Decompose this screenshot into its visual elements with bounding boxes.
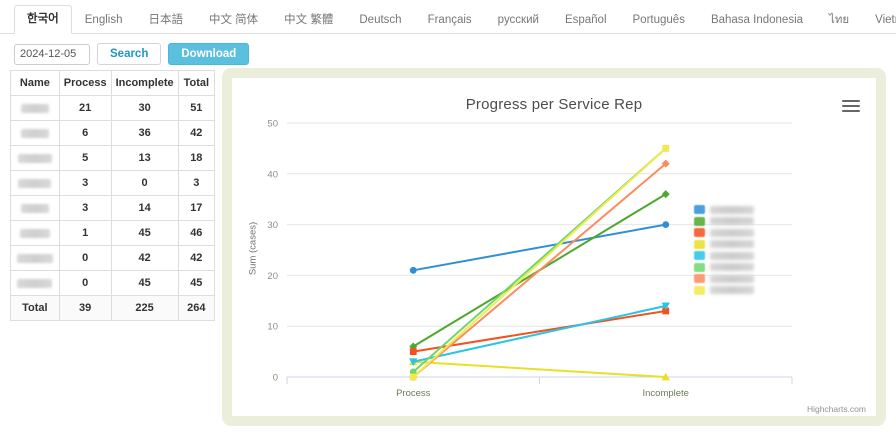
legend-label (710, 275, 754, 283)
language-tab-10[interactable]: Bahasa Indonesia (698, 6, 816, 34)
legend-swatch (694, 263, 705, 272)
total-cell-1: 39 (59, 296, 111, 321)
download-button[interactable]: Download (168, 43, 249, 65)
series-7[interactable] (410, 145, 669, 380)
cell-name (11, 146, 60, 171)
table-row[interactable]: 31417 (11, 196, 215, 221)
cell-total: 18 (178, 146, 214, 171)
x-axis: ProcessIncomplete (287, 377, 792, 399)
table-total-row: Total39225264 (11, 296, 215, 321)
legend-label (710, 252, 754, 260)
cell-process: 21 (59, 96, 111, 121)
redacted-name (21, 204, 49, 213)
cell-total: 42 (178, 246, 214, 271)
legend-label (710, 229, 754, 237)
cell-name (11, 121, 60, 146)
language-tab-bar: 한국어English日本語中文 简体中文 繁體DeutschFrançaisру… (0, 0, 896, 34)
table-header-0: Name (11, 71, 60, 96)
legend-label (710, 286, 754, 294)
language-tab-1[interactable]: English (72, 6, 136, 34)
table-row[interactable]: 14546 (11, 221, 215, 246)
chart-container: Progress per Service Rep Sum (cases) 010… (232, 78, 876, 416)
redacted-name (21, 104, 49, 113)
cell-incomplete: 42 (111, 246, 178, 271)
cell-process: 6 (59, 121, 111, 146)
language-tab-2[interactable]: 日本語 (135, 6, 196, 34)
cell-total: 17 (178, 196, 214, 221)
cell-incomplete: 45 (111, 221, 178, 246)
table-row[interactable]: 04545 (11, 271, 215, 296)
svg-text:50: 50 (267, 119, 278, 130)
legend-item-5[interactable] (694, 262, 774, 274)
cell-incomplete: 14 (111, 196, 178, 221)
cell-incomplete: 30 (111, 96, 178, 121)
table-row[interactable]: 213051 (11, 96, 215, 121)
summary-table-container: NameProcessIncompleteTotal 2130516364251… (10, 70, 215, 321)
legend-swatch (694, 274, 705, 283)
cell-incomplete: 0 (111, 171, 178, 196)
svg-text:10: 10 (267, 322, 278, 333)
legend-item-0[interactable] (694, 204, 774, 216)
table-row[interactable]: 63642 (11, 121, 215, 146)
legend-item-6[interactable] (694, 273, 774, 285)
table-header-1: Process (59, 71, 111, 96)
cell-process: 3 (59, 171, 111, 196)
cell-process: 1 (59, 221, 111, 246)
redacted-name (20, 229, 50, 238)
legend-item-1[interactable] (694, 216, 774, 228)
language-tab-0[interactable]: 한국어 (14, 5, 72, 34)
date-input[interactable] (14, 44, 90, 65)
series-6[interactable] (409, 160, 670, 381)
legend-item-3[interactable] (694, 239, 774, 251)
cell-process: 5 (59, 146, 111, 171)
chart-credits: Highcharts.com (807, 404, 866, 414)
table-row[interactable]: 04242 (11, 246, 215, 271)
table-header-2: Incomplete (111, 71, 178, 96)
table-head: NameProcessIncompleteTotal (11, 71, 215, 96)
svg-text:Process: Process (396, 388, 431, 399)
cell-process: 0 (59, 271, 111, 296)
language-tab-7[interactable]: русский (485, 6, 552, 34)
svg-text:40: 40 (267, 169, 278, 180)
language-tab-9[interactable]: Português (620, 6, 698, 34)
redacted-name (17, 254, 53, 263)
cell-name (11, 271, 60, 296)
language-tab-6[interactable]: Français (415, 6, 485, 34)
series-4[interactable] (409, 302, 670, 365)
cell-name (11, 246, 60, 271)
redacted-name (21, 129, 49, 138)
language-tab-3[interactable]: 中文 简体 (196, 6, 271, 34)
table-header-3: Total (178, 71, 214, 96)
cell-total: 45 (178, 271, 214, 296)
chart-legend (694, 204, 774, 296)
cell-total: 3 (178, 171, 214, 196)
table-row[interactable]: 51318 (11, 146, 215, 171)
cell-process: 0 (59, 246, 111, 271)
total-cell-0: Total (11, 296, 60, 321)
cell-incomplete: 13 (111, 146, 178, 171)
language-tab-8[interactable]: Español (552, 6, 620, 34)
legend-swatch (694, 240, 705, 249)
language-tab-11[interactable]: ไทย (816, 6, 862, 34)
chart-panel: Progress per Service Rep Sum (cases) 010… (222, 68, 886, 426)
redacted-name (18, 179, 51, 188)
cell-total: 42 (178, 121, 214, 146)
total-cell-2: 225 (111, 296, 178, 321)
language-tab-5[interactable]: Deutsch (346, 6, 414, 34)
language-tab-4[interactable]: 中文 繁體 (271, 6, 346, 34)
legend-item-7[interactable] (694, 285, 774, 297)
legend-swatch (694, 205, 705, 214)
language-tab-12[interactable]: Vietnam (862, 6, 896, 34)
series-0[interactable] (410, 221, 669, 274)
redacted-name (18, 154, 52, 163)
cell-process: 3 (59, 196, 111, 221)
redacted-name (17, 279, 52, 288)
summary-table: NameProcessIncompleteTotal 2130516364251… (10, 70, 215, 321)
table-row[interactable]: 303 (11, 171, 215, 196)
table-header-row: NameProcessIncompleteTotal (11, 71, 215, 96)
legend-label (710, 217, 754, 225)
app-root: 한국어English日本語中文 简体中文 繁體DeutschFrançaisру… (0, 0, 896, 444)
legend-swatch (694, 251, 705, 260)
legend-item-2[interactable] (694, 227, 774, 239)
chart-plot: 01020304050 ProcessIncomplete (232, 78, 876, 416)
legend-swatch (694, 228, 705, 237)
cell-total: 46 (178, 221, 214, 246)
cell-incomplete: 36 (111, 121, 178, 146)
legend-label (710, 240, 754, 248)
total-cell-3: 264 (178, 296, 214, 321)
series-layer (409, 145, 670, 381)
cell-total: 51 (178, 96, 214, 121)
cell-incomplete: 45 (111, 271, 178, 296)
y-axis-ticks: 01020304050 (267, 119, 278, 384)
legend-label (710, 206, 754, 214)
svg-text:30: 30 (267, 220, 278, 231)
cell-name (11, 196, 60, 221)
table-body: 213051636425131830331417145460424204545T… (11, 96, 215, 321)
svg-text:Incomplete: Incomplete (643, 388, 689, 399)
svg-text:20: 20 (267, 271, 278, 282)
legend-swatch (694, 217, 705, 226)
cell-name (11, 96, 60, 121)
svg-text:0: 0 (273, 373, 278, 384)
search-button[interactable]: Search (97, 43, 161, 65)
search-toolbar: Search Download (14, 43, 249, 65)
cell-name (11, 221, 60, 246)
legend-swatch (694, 286, 705, 295)
legend-item-4[interactable] (694, 250, 774, 262)
cell-name (11, 171, 60, 196)
legend-label (710, 263, 754, 271)
